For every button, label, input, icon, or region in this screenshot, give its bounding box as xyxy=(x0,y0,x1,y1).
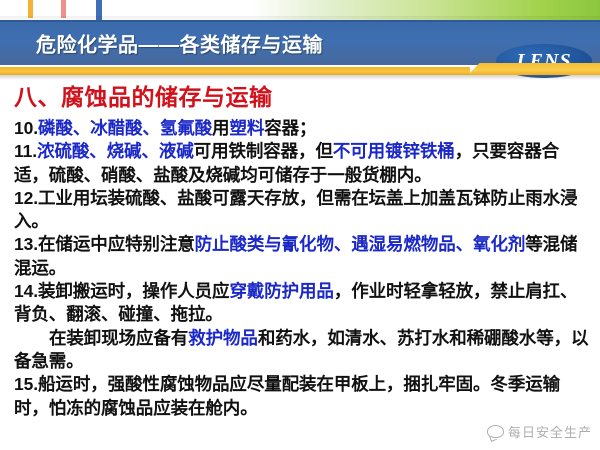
item-10-run-1: 磷酸、冰醋酸、氢氟酸 xyxy=(38,118,212,138)
item-14-run-0: 14.装卸搬运时，操作人员应 xyxy=(14,281,229,301)
item-11-run-3: 不可用镀锌铁桶 xyxy=(333,141,455,161)
item-15: 15.船运时，强酸性腐蚀物品应尽量配装在甲板上，捆扎牢固。冬季运输时，怕冻的腐蚀… xyxy=(14,373,590,420)
body-paragraph-list: 10.磷酸、冰醋酸、氢氟酸用塑料容器；11.浓硫酸、烧碱、液碱可用铁制容器，但不… xyxy=(14,117,590,420)
item-12-run-0: 12.工业用坛装硫酸、盐酸可露天存放，但需在坛盖上加盖瓦钵防止雨水浸入。 xyxy=(14,188,577,231)
gold-accent-band xyxy=(0,63,600,75)
item-14b-run-0: 在装卸现场应备有 xyxy=(49,328,188,348)
item-11-run-1: 浓硫酸、烧碱、液碱 xyxy=(37,141,194,161)
page-title: 危险化学品——各类储存与运输 xyxy=(36,28,323,57)
banner-top-rule xyxy=(0,20,600,22)
item-14-run-1: 穿戴防护用品 xyxy=(229,281,333,301)
item-14b-run-1: 救护物品 xyxy=(188,328,258,348)
gold-band-right xyxy=(482,63,600,75)
chat-bubble-icon xyxy=(487,425,504,438)
item-10-run-0: 10. xyxy=(14,118,38,138)
item-10-run-2: 用 xyxy=(212,118,229,138)
gold-band-left xyxy=(0,67,470,75)
item-10: 10.磷酸、冰醋酸、氢氟酸用塑料容器； xyxy=(14,117,590,140)
top-decorative-strip xyxy=(0,0,600,22)
slide-canvas: 危险化学品——各类储存与运输 LENS 八、腐蚀品的储存与运输 10.磷酸、冰醋… xyxy=(0,0,600,450)
section-heading: 八、腐蚀品的储存与运输 xyxy=(14,82,590,112)
item-13-run-1: 防止酸类与氰化物、遇湿易燃物品、氧化剂 xyxy=(195,234,526,254)
slide-content: 八、腐蚀品的储存与运输 10.磷酸、冰醋酸、氢氟酸用塑料容器；11.浓硫酸、烧碱… xyxy=(0,82,600,450)
section-heading-main: 腐蚀品的储存与运输 xyxy=(61,84,273,110)
title-banner: 危险化学品——各类储存与运输 LENS xyxy=(0,20,600,65)
item-10-run-3: 塑料 xyxy=(229,118,264,138)
item-12: 12.工业用坛装硫酸、盐酸可露天存放，但需在坛盖上加盖瓦钵防止雨水浸入。 xyxy=(14,187,590,234)
item-11-run-0: 11. xyxy=(14,141,37,161)
item-13: 13.在储运中应特别注意防止酸类与氰化物、遇湿易燃物品、氧化剂等混储混运。 xyxy=(14,233,590,280)
item-15-run-0: 15.船运时，强酸性腐蚀物品应尽量配装在甲板上，捆扎牢固。冬季运输时，怕冻的腐蚀… xyxy=(14,374,560,417)
section-heading-prefix: 八、 xyxy=(14,84,61,110)
item-11: 11.浓硫酸、烧碱、液碱可用铁制容器，但不可用镀锌铁桶，只要容器合适，硫酸、硝酸… xyxy=(14,140,590,187)
watermark-text: 每日安全生产 xyxy=(508,422,592,441)
item-14: 14.装卸搬运时，操作人员应穿戴防护用品，作业时轻拿轻放，禁止肩扛、背负、翻滚、… xyxy=(14,280,590,327)
watermark: 每日安全生产 xyxy=(487,422,592,441)
item-10-run-4: 容器； xyxy=(264,118,316,138)
item-13-run-0: 13.在储运中应特别注意 xyxy=(14,234,195,254)
item-11-run-2: 可用铁制容器，但 xyxy=(194,141,333,161)
item-14b: 在装卸现场应备有救护物品和药水，如清水、苏打水和稀硼酸水等，以备急需。 xyxy=(14,327,590,374)
gold-band-shadow xyxy=(0,75,600,80)
